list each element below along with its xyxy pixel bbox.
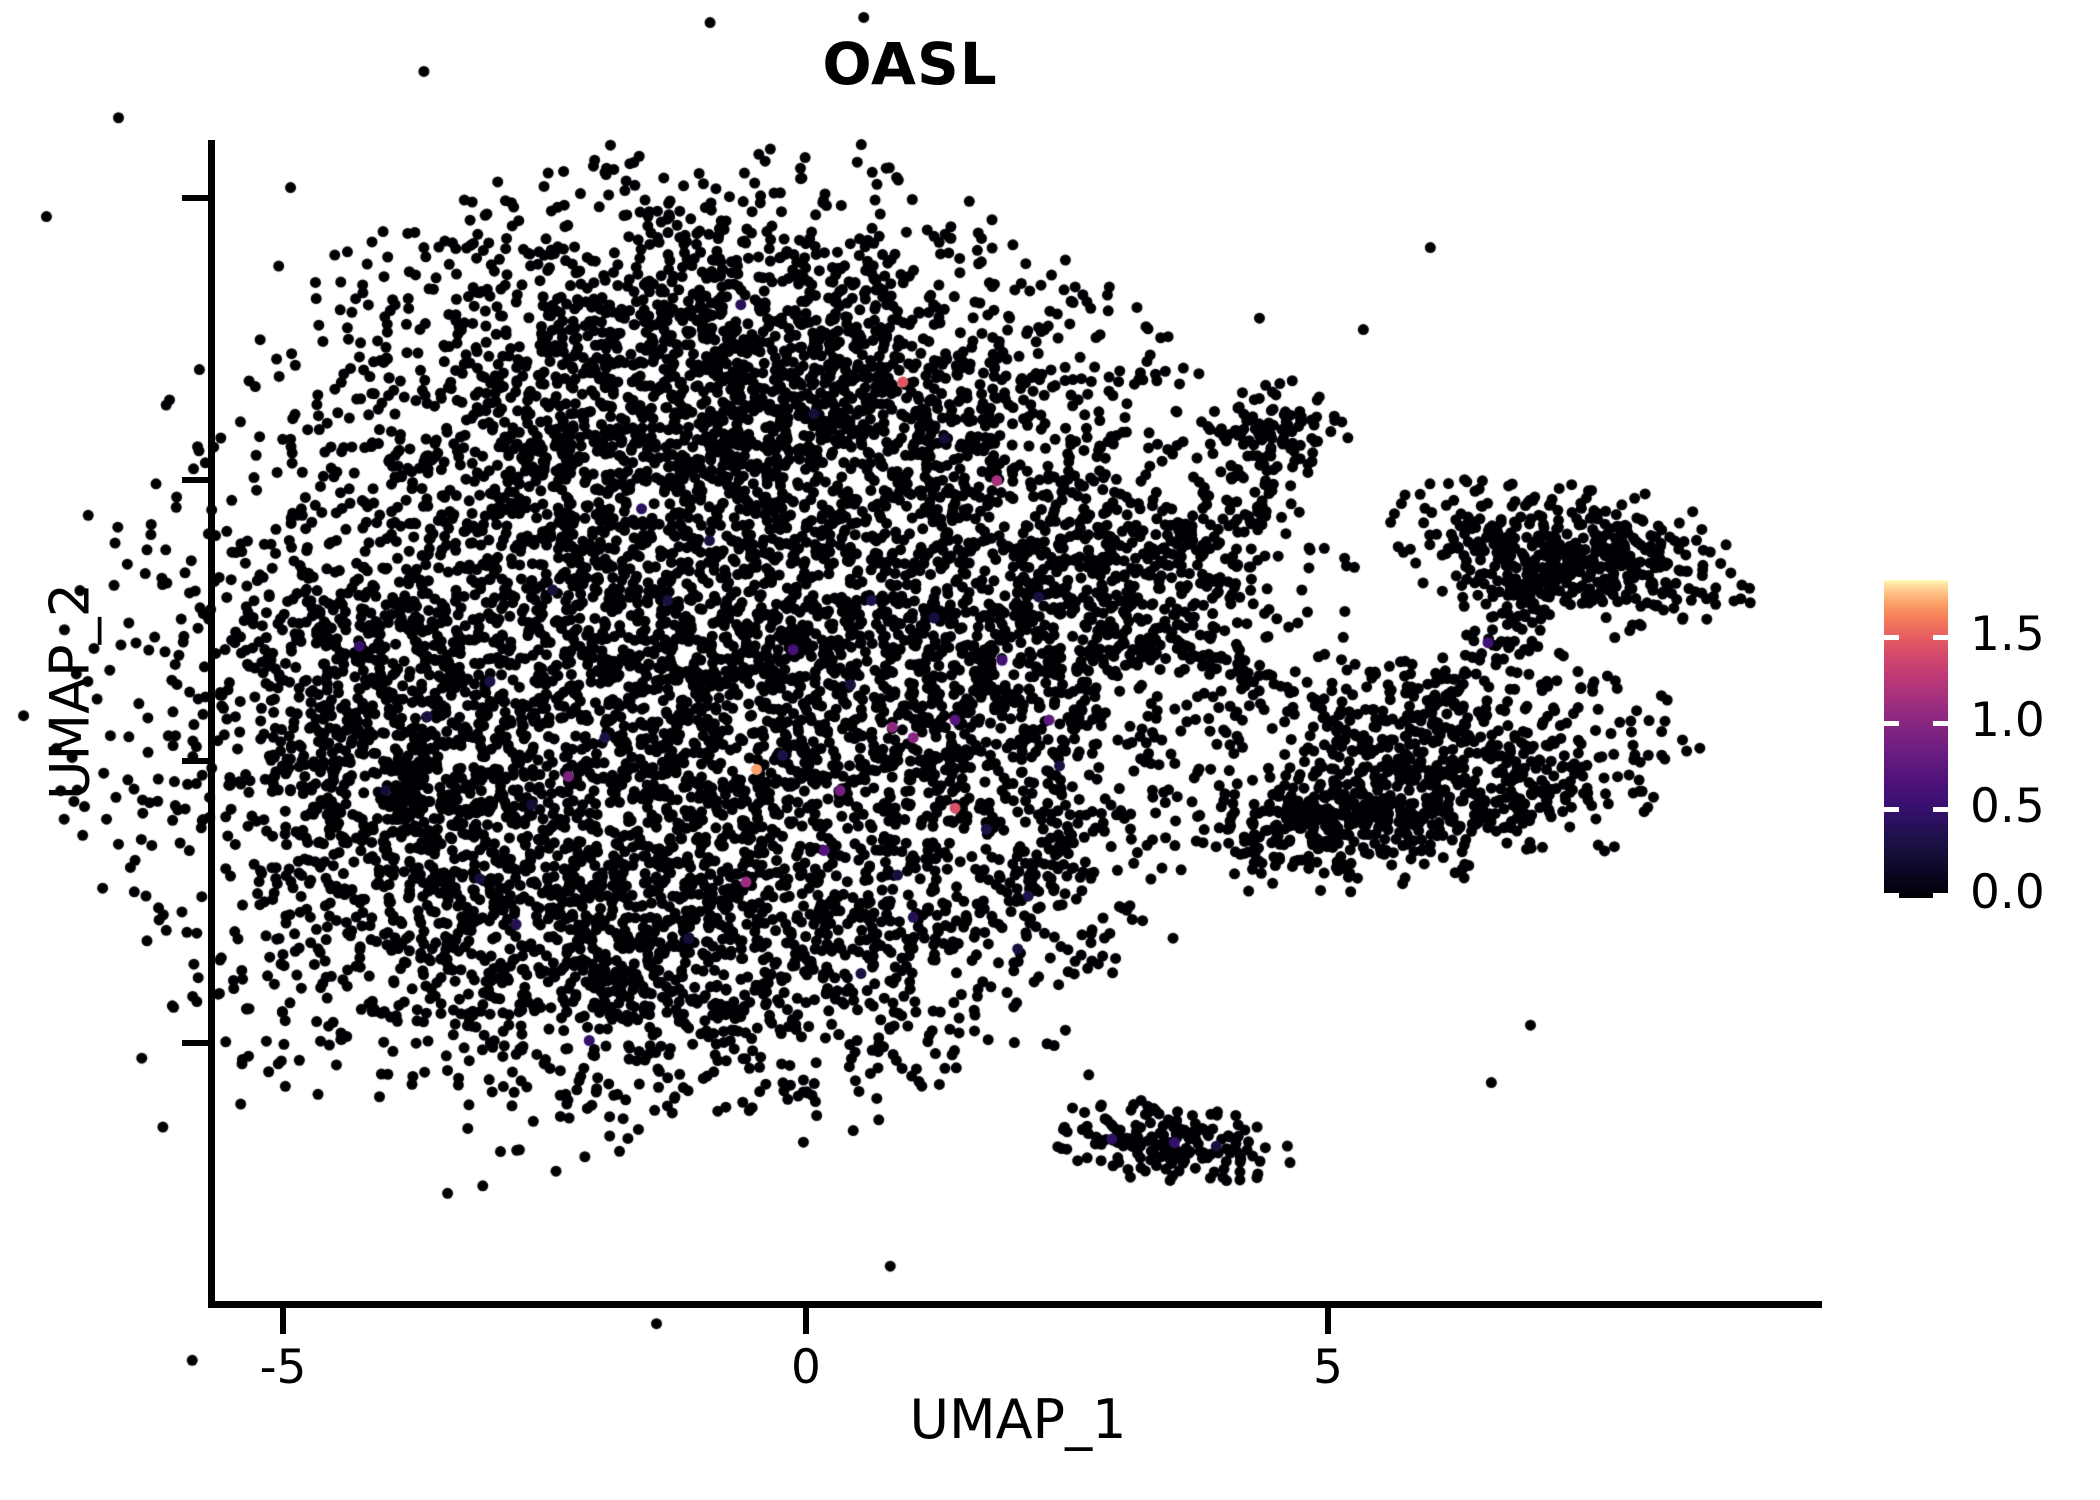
colorbar-tick-05-right (1933, 807, 1948, 812)
colorbar-tick-15-left (1884, 635, 1899, 640)
colorbar-tick-15-right (1933, 635, 1948, 640)
x-ticklabel-5: 5 (1228, 1340, 1428, 1395)
y-axis-label: UMAP_2 (39, 482, 102, 902)
umap-feature-plot: OASL 0 4 8 12 -5 0 5 UMAP_1 UMAP_2 0.0 0… (0, 0, 2100, 1500)
colorbar-label-0-0: 0.0 (1970, 865, 2045, 920)
x-tick-0 (803, 1308, 809, 1334)
colorbar-tick-10-right (1933, 721, 1948, 726)
x-axis-label: UMAP_1 (548, 1388, 1488, 1451)
x-ticklabel-neg5: -5 (183, 1340, 383, 1395)
colorbar-tick-10-left (1884, 721, 1899, 726)
y-axis-spine (208, 140, 215, 1308)
y-tick-8 (182, 477, 208, 483)
y-tick-12 (182, 195, 208, 201)
scatter-plot-canvas (0, 0, 2100, 1500)
y-tick-4 (182, 758, 208, 764)
x-ticklabel-0: 0 (706, 1340, 906, 1395)
colorbar-label-1-5: 1.5 (1970, 607, 2045, 662)
colorbar: 0.0 0.5 1.0 1.5 (1884, 580, 2074, 900)
colorbar-label-1-0: 1.0 (1970, 693, 2045, 748)
x-axis-spine (208, 1301, 1822, 1308)
colorbar-tick-05-left (1884, 807, 1899, 812)
colorbar-tick-0-left (1884, 893, 1899, 898)
x-tick-neg5 (280, 1308, 286, 1334)
page-title: OASL (0, 30, 1820, 98)
x-tick-5 (1325, 1308, 1331, 1334)
colorbar-tick-0-right (1933, 893, 1948, 898)
colorbar-gradient (1884, 580, 1948, 898)
y-tick-0 (182, 1040, 208, 1046)
colorbar-label-0-5: 0.5 (1970, 779, 2045, 834)
